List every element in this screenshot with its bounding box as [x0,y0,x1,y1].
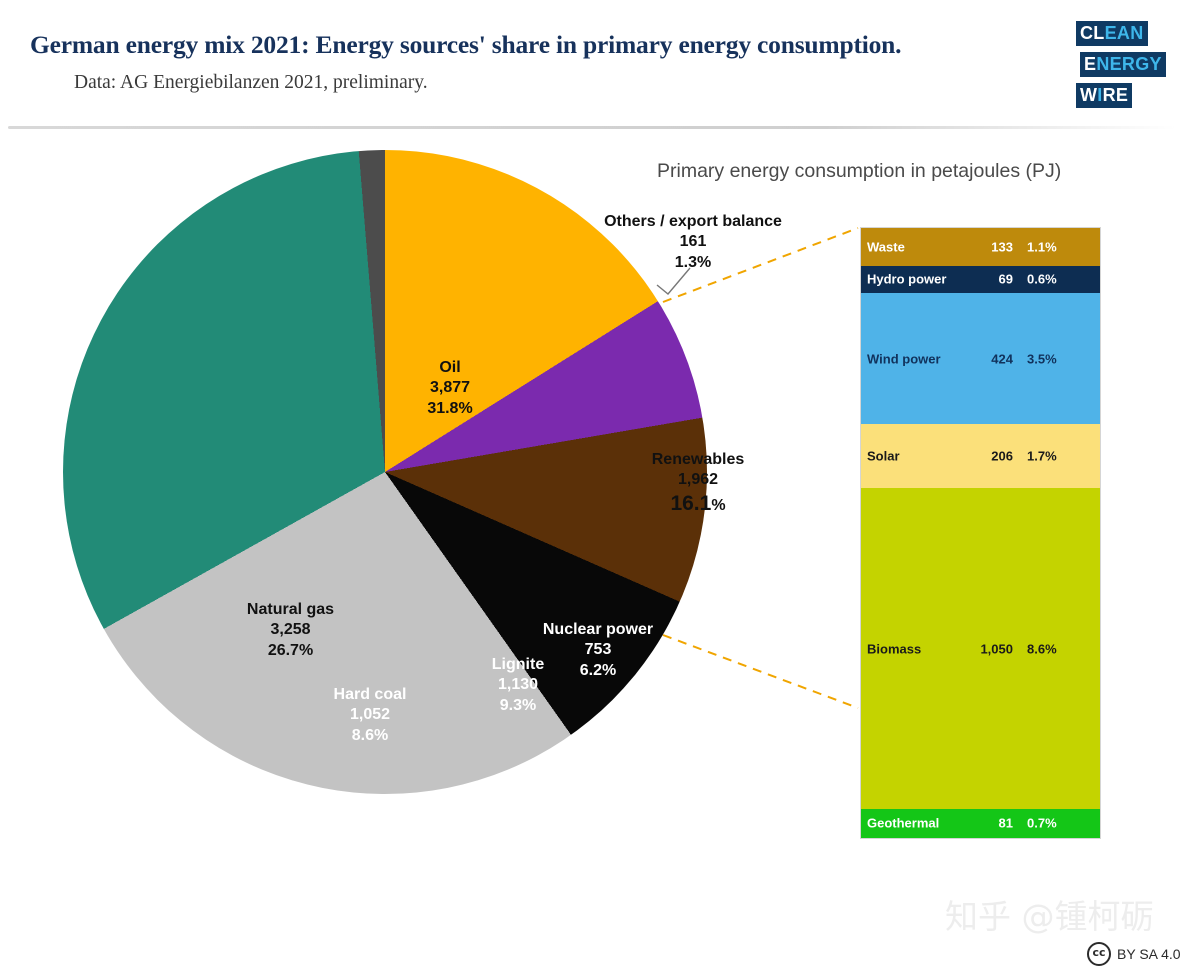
watermark: 知乎 @锺柯砺 [945,890,1154,938]
pie-label-nuclear-power: Nuclear power 753 6.2% [503,620,693,681]
logo-line-energy: ENERGY [1080,52,1166,77]
logo-clean-blue: EAN [1105,23,1144,43]
pie-label-natural-gas-value: 3,258 [203,620,378,640]
pie-label-renewables-percent-sign: % [711,497,725,514]
pie-label-hard-coal-percent: 8.6% [285,726,455,746]
chart-area: Primary energy consumption in petajoules… [0,130,1200,848]
bar-segment-geothermal-name: Geothermal [867,816,955,831]
bar-segment-solar-value: 206 [955,449,1013,464]
pie-label-oil-value: 3,877 [365,378,535,398]
bar-segment-solar-name: Solar [867,449,955,464]
bar-segment-geothermal-value: 81 [955,816,1013,831]
bar-segment-geothermal-percent: 0.7% [1013,816,1057,831]
bar-segment-waste-percent: 1.1% [1013,239,1057,254]
logo-wire-white2: RE [1103,85,1129,105]
bar-segment-geothermal: Geothermal 81 0.7% [861,809,1100,838]
pie-label-oil-percent: 31.8% [365,399,535,419]
pie-label-renewables: Renewables 1,962 16.1% [603,450,793,518]
pie-label-hard-coal-value: 1,052 [285,705,455,725]
bar-segment-solar: Solar 206 1.7% [861,424,1100,488]
bar-segment-biomass: Biomass 1,050 8.6% [861,488,1100,808]
pie-label-hard-coal-name: Hard coal [285,685,455,705]
pie-label-hard-coal: Hard coal 1,052 8.6% [285,685,455,746]
pie-label-others-percent: 1.3% [578,253,808,273]
page-subtitle: Data: AG Energiebilanzen 2021, prelimina… [74,72,428,94]
logo-line-clean: CLEAN [1076,21,1148,46]
bar-segment-waste: Waste 133 1.1% [861,228,1100,266]
logo-line-wire: WIRE [1076,83,1132,108]
creative-commons-icon: cc [1087,942,1111,966]
bar-segment-biomass-percent: 8.6% [1013,641,1057,656]
logo-energy-blue: NERGY [1096,54,1162,74]
bar-segment-hydro-power-name: Hydro power [867,272,955,287]
license-notice: cc BY SA 4.0 [1087,942,1181,966]
bar-segment-hydro-power-value: 69 [955,272,1013,287]
pie-label-nuclear-power-value: 753 [503,640,693,660]
header-divider [8,126,1176,129]
bar-segment-waste-name: Waste [867,239,955,254]
pie-label-oil: Oil 3,877 31.8% [365,358,535,419]
header: German energy mix 2021: Energy sources' … [0,0,1200,128]
logo-clean-white: CL [1080,23,1105,43]
bar-segment-biomass-value: 1,050 [955,641,1013,656]
pie-label-renewables-percent-number: 16.1 [670,492,711,515]
clean-energy-wire-logo: CLEAN ENERGY WIRE [1076,21,1168,113]
pie-label-renewables-value: 1,962 [603,470,793,490]
pie-label-others-value: 161 [578,232,808,252]
logo-energy-white: E [1084,54,1096,74]
bar-segment-biomass-name: Biomass [867,641,955,656]
pie-label-natural-gas-percent: 26.7% [203,641,378,661]
pie-label-renewables-percent: 16.1% [603,491,793,518]
pie-label-natural-gas-name: Natural gas [203,600,378,620]
logo-wire-white: W [1080,85,1097,105]
bar-segment-solar-percent: 1.7% [1013,449,1057,464]
pie-label-nuclear-power-name: Nuclear power [503,620,693,640]
bar-segment-wind-power-name: Wind power [867,351,955,366]
pie-label-nuclear-power-percent: 6.2% [503,661,693,681]
bar-segment-hydro-power: Hydro power 69 0.6% [861,266,1100,293]
pie-label-oil-name: Oil [365,358,535,378]
pie-label-natural-gas: Natural gas 3,258 26.7% [203,600,378,661]
bar-chart-caption: Primary energy consumption in petajoules… [657,160,1061,183]
license-text: BY SA 4.0 [1117,946,1181,962]
pie-label-lignite-percent: 9.3% [438,696,598,716]
bar-segment-wind-power: Wind power 424 3.5% [861,293,1100,425]
page-title: German energy mix 2021: Energy sources' … [30,30,1050,60]
renewables-breakdown-bar: Waste 133 1.1% Hydro power 69 0.6% Wind … [860,227,1101,839]
pie-label-others-export-balance: Others / export balance 161 1.3% [578,212,808,273]
bar-segment-wind-power-value: 424 [955,351,1013,366]
pie-label-others-name: Others / export balance [578,212,808,232]
bar-segment-waste-value: 133 [955,239,1013,254]
pie-label-renewables-name: Renewables [603,450,793,470]
bar-segment-hydro-power-percent: 0.6% [1013,272,1057,287]
bar-segment-wind-power-percent: 3.5% [1013,351,1057,366]
